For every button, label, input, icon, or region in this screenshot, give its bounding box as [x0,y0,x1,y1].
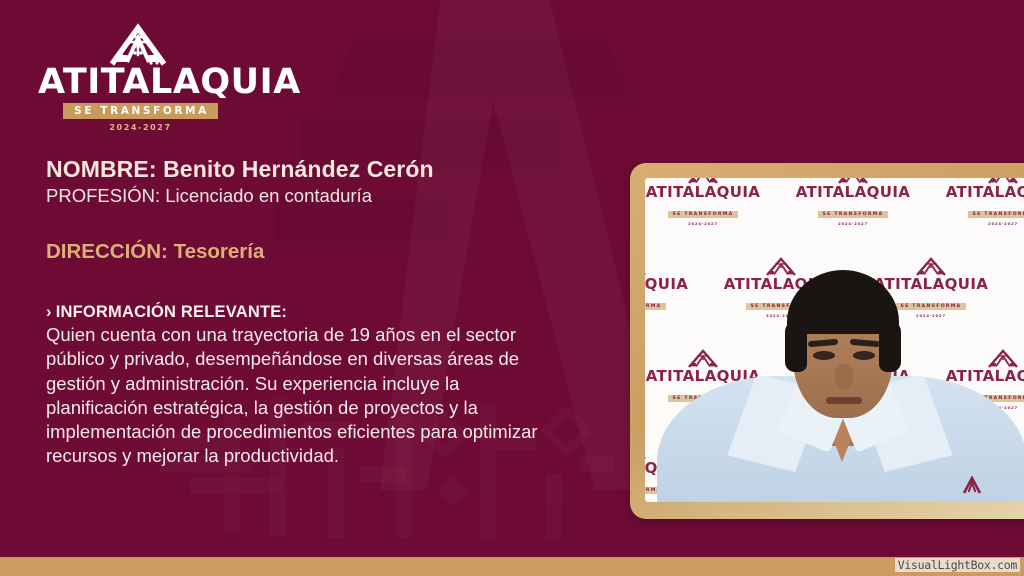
profession-label: PROFESIÓN: [46,185,160,206]
direction-label: DIRECCIÓN: [46,240,168,263]
name-line: NOMBRE: Benito Hernández Cerón [46,156,591,183]
relevant-info-body: Quien cuenta con una trayectoria de 19 a… [46,323,546,468]
relevant-info-label: INFORMACIÓN RELEVANTE: [56,303,287,321]
logo-years: 2024-2027 [38,123,243,132]
profession-line: PROFESIÓN: Licenciado en contaduría [46,184,591,208]
atitalaquia-arch-icon [38,22,243,66]
name-label: NOMBRE: [46,156,157,182]
portrait-photo: ATITALAQUIASE TRANSFORMA2024-2027ATITALA… [645,178,1024,502]
relevant-info-heading: ›INFORMACIÓN RELEVANTE: [46,303,591,322]
visuallightbox-watermark: VisualLightBox.com [895,558,1020,572]
direction-line: DIRECCIÓN: Tesorería [46,240,591,264]
chevron-right-icon: › [46,303,52,321]
official-info-block: NOMBRE: Benito Hernández Cerón PROFESIÓN… [46,156,591,469]
logo-tagline: SE TRANSFORMA [63,103,218,119]
profession-value: Licenciado en contaduría [165,185,372,206]
portrait-frame: ATITALAQUIASE TRANSFORMA2024-2027ATITALA… [630,163,1024,519]
name-value: Benito Hernández Cerón [163,156,434,182]
bg-step-shape-1 [330,38,630,100]
footer-bar: VisualLightBox.com [0,557,1024,576]
atitalaquia-logo: ATITALAQUIA SE TRANSFORMA 2024-2027 [38,22,243,118]
slide-canvas: ATITALAQUIA SE TRANSFORMA 2024-2027 NOMB… [0,0,1024,576]
direction-value: Tesorería [174,240,265,263]
person-figure [645,178,1024,502]
shirt-atitalaquia-arch-icon [961,476,983,494]
logo-wordmark: ATITALAQUIA [38,65,243,100]
